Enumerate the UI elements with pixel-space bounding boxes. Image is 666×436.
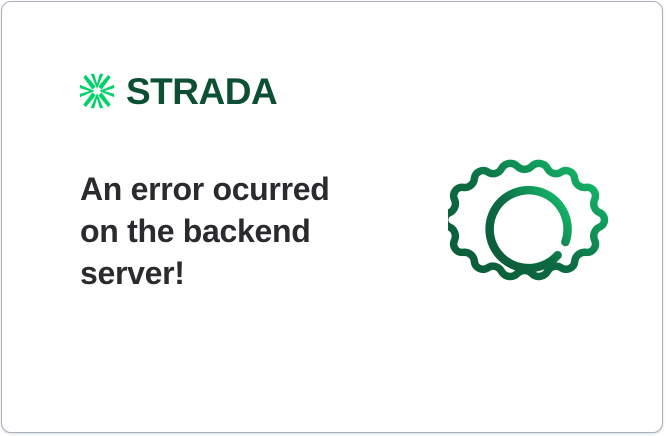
- error-message: An error ocurred on the backend server!: [80, 168, 370, 294]
- gear-cog-icon: [448, 139, 612, 309]
- error-card: STRADA An error ocurred on the backend s…: [1, 1, 663, 433]
- brand-wordmark: STRADA: [126, 73, 277, 110]
- strada-asterisk-icon: [78, 72, 116, 110]
- brand-lockup: STRADA: [78, 72, 277, 110]
